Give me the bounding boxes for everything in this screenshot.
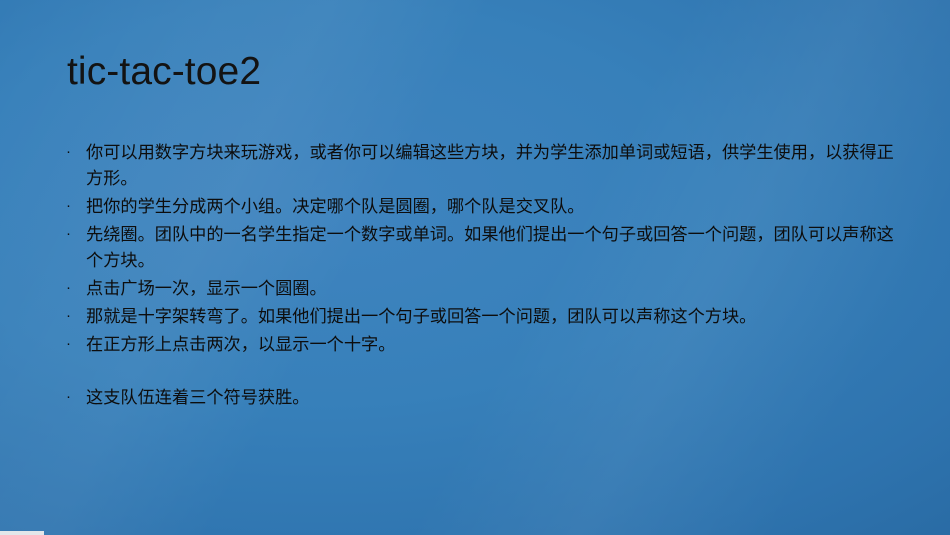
list-item: · 先绕圈。团队中的一名学生指定一个数字或单词。如果他们提出一个句子或回答一个问… [66,221,908,273]
bullet-dot-icon: · [66,275,86,301]
list-item: · 把你的学生分成两个小组。决定哪个队是圆圈，哪个队是交叉队。 [66,193,908,219]
list-item-text: 在正方形上点击两次，以显示一个十字。 [86,331,908,357]
list-item-text: 你可以用数字方块来玩游戏，或者你可以编辑这些方块，并为学生添加单词或短语，供学生… [86,139,908,191]
bullet-dot-icon: · [66,139,86,165]
list-item-text: 这支队伍连着三个符号获胜。 [86,384,908,410]
list-item: · 点击广场一次，显示一个圆圈。 [66,275,908,301]
bullet-dot-icon: · [66,384,86,410]
bullet-dot-icon: · [66,303,86,329]
list-item: · 那就是十字架转弯了。如果他们提出一个句子或回答一个问题，团队可以声称这个方块… [66,303,908,329]
list-item: · 在正方形上点击两次，以显示一个十字。 [66,331,908,357]
list-item-text: 点击广场一次，显示一个圆圈。 [86,275,908,301]
bullet-dot-icon: · [66,193,86,219]
bullet-list: · 你可以用数字方块来玩游戏，或者你可以编辑这些方块，并为学生添加单词或短语，供… [66,139,908,412]
bullet-dot-icon: · [66,221,86,247]
bottom-accent-strip [0,531,44,535]
list-item: · 这支队伍连着三个符号获胜。 [66,384,908,410]
page-title: tic-tac-toe2 [67,49,261,95]
bullet-dot-icon: · [66,331,86,357]
presentation-slide: tic-tac-toe2 · 你可以用数字方块来玩游戏，或者你可以编辑这些方块，… [0,0,950,535]
list-item: · 你可以用数字方块来玩游戏，或者你可以编辑这些方块，并为学生添加单词或短语，供… [66,139,908,191]
list-item-text: 先绕圈。团队中的一名学生指定一个数字或单词。如果他们提出一个句子或回答一个问题，… [86,221,908,273]
list-item-text: 把你的学生分成两个小组。决定哪个队是圆圈，哪个队是交叉队。 [86,193,908,219]
list-item-text: 那就是十字架转弯了。如果他们提出一个句子或回答一个问题，团队可以声称这个方块。 [86,303,908,329]
